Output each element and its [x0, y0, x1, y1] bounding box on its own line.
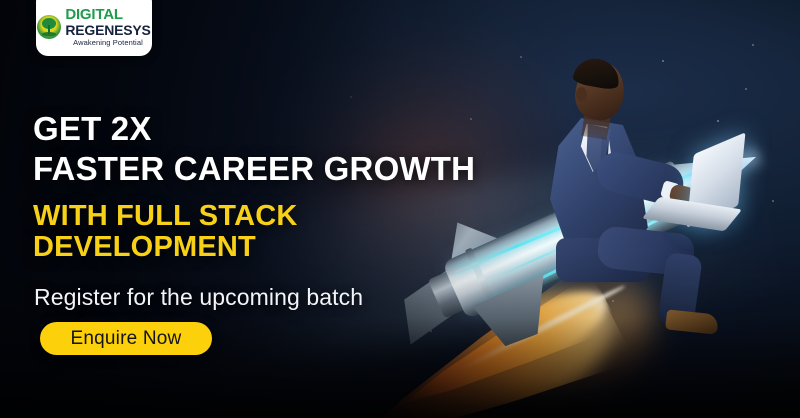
headline-line-4: DEVELOPMENT [33, 231, 256, 264]
subtext: Register for the upcoming batch [34, 284, 363, 311]
banner-copy: GET 2X FASTER CAREER GROWTH WITH FULL ST… [0, 0, 800, 418]
headline-line-2: FASTER CAREER GROWTH [33, 150, 475, 188]
enquire-now-button[interactable]: Enquire Now [40, 322, 212, 355]
promo-banner: DIGITAL REGENESYS Awakening Potential GE… [0, 0, 800, 418]
headline-line-1: GET 2X [33, 110, 152, 148]
headline-line-3: WITH FULL STACK [33, 200, 298, 233]
